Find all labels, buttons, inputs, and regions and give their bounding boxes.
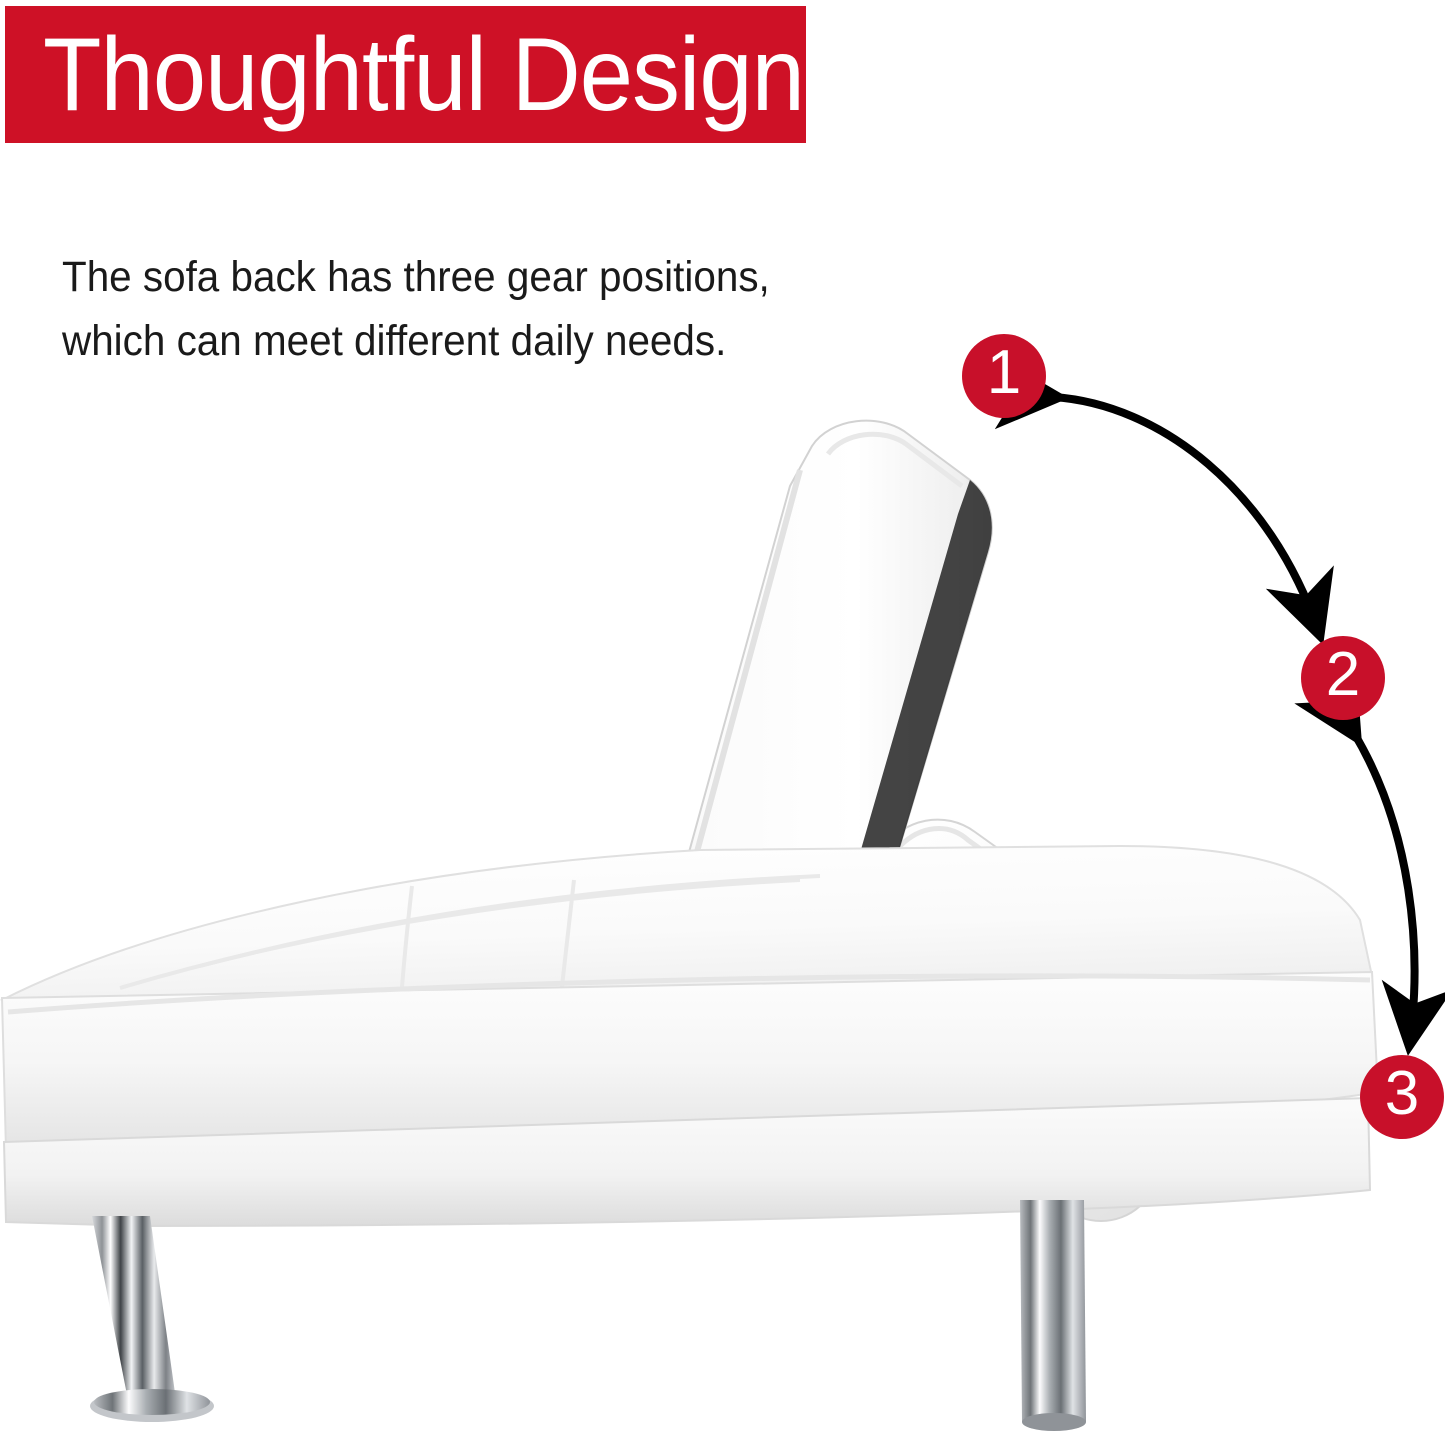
- callout-badge-3-label: 3: [1385, 1063, 1419, 1125]
- callout-badge-1-label: 1: [987, 342, 1021, 404]
- description-text: The sofa back has three gear positions, …: [62, 246, 795, 373]
- sofa-photo: [0, 380, 1445, 1440]
- banner-title: Thoughtful Design: [43, 23, 804, 127]
- chrome-leg-right: [1020, 1200, 1086, 1431]
- banner: Thoughtful Design: [5, 6, 806, 143]
- product-feature-image: Thoughtful Design The sofa back has thre…: [0, 0, 1445, 1440]
- callout-badge-1: 1: [962, 334, 1046, 418]
- callout-badge-2: 2: [1301, 636, 1385, 720]
- sofa-vector: [0, 380, 1445, 1440]
- callout-badge-3: 3: [1360, 1055, 1444, 1139]
- chrome-leg-left: [90, 1216, 214, 1422]
- callout-badge-2-label: 2: [1326, 644, 1360, 706]
